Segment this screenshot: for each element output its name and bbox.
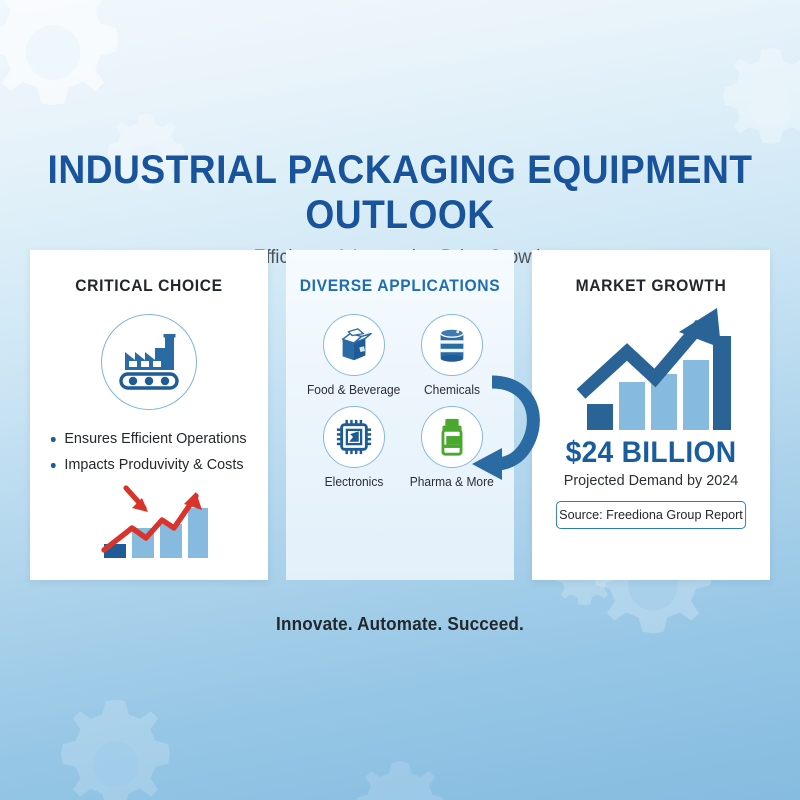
card-title-diverse-applications: DIVERSE APPLICATIONS xyxy=(295,276,505,296)
list-item: Impacts Produvivity & Costs xyxy=(48,456,259,473)
factory-conveyor-icon xyxy=(115,330,183,394)
app-label: Electronics xyxy=(324,475,384,489)
critical-choice-bullets: Ensures Efficient Operations Impacts Pro… xyxy=(48,430,268,473)
microchip-icon-frame xyxy=(323,406,385,468)
oil-drum-icon-frame xyxy=(421,314,483,376)
open-box-icon xyxy=(335,326,373,364)
card-diverse-applications: DIVERSE APPLICATIONS xyxy=(286,250,514,580)
ascending-arrow-bar-chart-icon xyxy=(571,304,731,434)
card-market-growth: MARKET GROWTH $24 BILLION Projected Dema… xyxy=(532,250,770,580)
oil-drum-icon xyxy=(435,326,469,364)
app-label: Pharma & More xyxy=(410,475,494,489)
list-item: Ensures Efficient Operations xyxy=(48,430,259,447)
card-title-market-growth: MARKET GROWTH xyxy=(542,276,761,296)
open-box-icon-frame xyxy=(323,314,385,376)
footer-tagline: Innovate. Automate. Succeed. xyxy=(20,614,780,635)
app-item-chemicals[interactable]: Chemicals xyxy=(421,314,483,397)
red-arrow-bar-chart-icon xyxy=(90,482,208,560)
app-label: Chemicals xyxy=(422,383,482,397)
gear-icon xyxy=(0,0,158,172)
pill-bottle-icon xyxy=(436,417,468,457)
gear-icon xyxy=(28,689,203,800)
market-growth-caption: Projected Demand by 2024 xyxy=(537,472,765,489)
pill-bottle-icon-frame xyxy=(421,406,483,468)
app-item-electronics[interactable]: Electronics xyxy=(323,406,385,489)
market-growth-figure: $24 BILLION xyxy=(539,436,763,470)
card-title-critical-choice: CRITICAL CHOICE xyxy=(40,276,259,296)
page-title: INDUSTRIAL PACKAGING EQUIPMENT OUTLOOK xyxy=(28,148,772,238)
factory-conveyor-icon-frame xyxy=(101,314,197,410)
cards-row: CRITICAL CHOICE xyxy=(30,250,770,580)
microchip-icon xyxy=(335,418,373,456)
source-badge: Source: Freediona Group Report xyxy=(556,501,746,529)
app-item-pharma[interactable]: Pharma & More xyxy=(408,406,496,489)
infographic-poster: INDUSTRIAL PACKAGING EQUIPMENT OUTLOOK E… xyxy=(0,0,800,800)
app-label: Food & Beverage xyxy=(307,383,400,397)
gear-icon xyxy=(330,750,470,800)
applications-grid: Food & Beverage Chemicals xyxy=(305,314,495,489)
app-item-food-beverage[interactable]: Food & Beverage xyxy=(305,314,402,397)
card-critical-choice: CRITICAL CHOICE xyxy=(30,250,268,580)
